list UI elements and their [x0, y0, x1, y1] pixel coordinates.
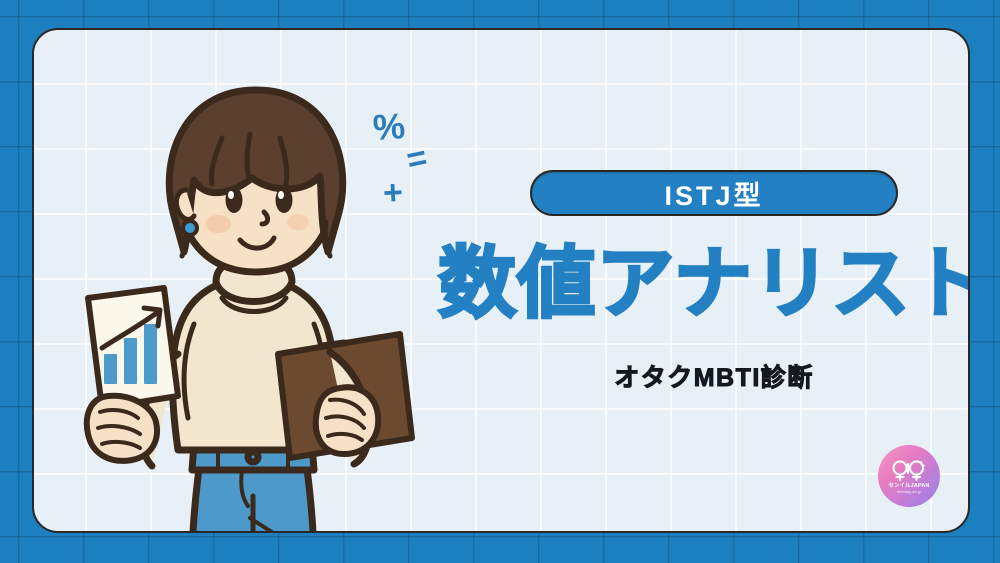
brand-logo: センイルJAPAN birthday-ad.jp — [878, 445, 940, 507]
brand-tagline: birthday-ad.jp — [897, 490, 921, 494]
plus-symbol: + — [382, 176, 404, 211]
page-title: 数値アナリスト — [438, 244, 970, 322]
percent-symbol: % — [372, 108, 406, 146]
page-subtitle: オタクMBTI診断 — [614, 358, 814, 394]
result-card: % = + ISTJ型 数値アナリスト オタクMBTI診断 セン — [32, 28, 970, 533]
page-background: % = + ISTJ型 数値アナリスト オタクMBTI診断 セン — [0, 0, 1000, 563]
mbti-type-badge: ISTJ型 — [530, 170, 898, 216]
brand-mark-icon — [890, 458, 928, 482]
